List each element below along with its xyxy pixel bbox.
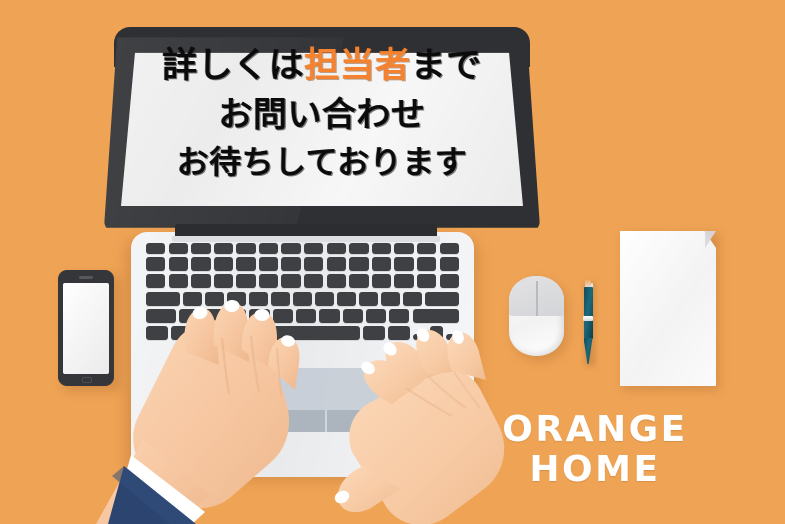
keyboard-key[interactable] — [372, 257, 391, 271]
keyboard-key-alt[interactable] — [196, 326, 218, 340]
keyboard-key[interactable] — [304, 274, 323, 288]
keyboard-key[interactable] — [417, 274, 436, 288]
keyboard-key[interactable] — [227, 292, 246, 306]
keyboard-key[interactable] — [327, 257, 346, 271]
right-hand-nail — [333, 488, 352, 506]
keyboard-key[interactable] — [343, 309, 363, 323]
keyboard-key[interactable] — [203, 309, 223, 323]
keyboard-key[interactable] — [440, 243, 459, 254]
keyboard-key[interactable] — [372, 243, 391, 254]
keyboard-key[interactable] — [146, 274, 165, 288]
keyboard-key[interactable] — [259, 243, 278, 254]
keyboard-row[interactable] — [146, 292, 459, 306]
smartphone-speaker-icon — [79, 276, 93, 279]
keyboard-key[interactable] — [440, 257, 459, 271]
keyboard-key[interactable] — [281, 274, 300, 288]
keyboard-key-ctrl[interactable] — [146, 326, 168, 340]
keyboard-key[interactable] — [214, 243, 233, 254]
keyboard-key[interactable] — [304, 243, 323, 254]
keyboard-key-fn[interactable] — [171, 326, 193, 340]
brand-wordmark: ORANGE HOME — [470, 410, 720, 491]
laptop-keyboard[interactable] — [146, 243, 459, 355]
keyboard-key[interactable] — [349, 257, 368, 271]
laptop-lid: 詳しくは担当者まで お問い合わせ お待ちしております — [104, 27, 540, 234]
keyboard-key[interactable] — [281, 243, 300, 254]
keyboard-row[interactable] — [146, 257, 459, 271]
keyboard-key[interactable] — [366, 309, 386, 323]
keyboard-key[interactable] — [191, 274, 210, 288]
keyboard-key[interactable] — [319, 309, 339, 323]
keyboard-key[interactable] — [394, 257, 413, 271]
keyboard-key[interactable] — [146, 257, 165, 271]
keyboard-key[interactable] — [349, 274, 368, 288]
keyboard-key-space[interactable] — [246, 326, 360, 340]
keyboard-key[interactable] — [281, 257, 300, 271]
pen-band — [583, 316, 593, 321]
pen-tip — [584, 338, 593, 364]
keyboard-key[interactable] — [273, 309, 293, 323]
keyboard-key[interactable] — [236, 257, 255, 271]
laptop-hinge-lip — [172, 236, 440, 242]
keyboard-key-cmd-right[interactable] — [363, 326, 385, 340]
keyboard-key-shift-left[interactable] — [146, 309, 176, 323]
screen-text-segment: まで — [411, 46, 482, 86]
keyboard-key[interactable] — [394, 243, 413, 254]
keyboard-key[interactable] — [381, 292, 400, 306]
keyboard-key[interactable] — [169, 257, 188, 271]
screen-message-line-2: お問い合わせ — [219, 98, 426, 132]
keyboard-key[interactable] — [169, 274, 188, 288]
paper-sheet[interactable] — [620, 231, 716, 386]
keyboard-key[interactable] — [183, 292, 202, 306]
keyboard-key[interactable] — [389, 309, 409, 323]
keyboard-key[interactable] — [372, 274, 391, 288]
keyboard-key[interactable] — [249, 292, 268, 306]
screen-text-segment: 詳しくは — [162, 46, 304, 86]
keyboard-key-enter[interactable] — [425, 292, 459, 306]
keyboard-row-bottom[interactable] — [146, 326, 459, 340]
keyboard-key[interactable] — [226, 309, 246, 323]
keyboard-key-arrow-right[interactable] — [446, 334, 459, 340]
keyboard-key-tab[interactable] — [146, 292, 180, 306]
keyboard-key[interactable] — [249, 309, 269, 323]
keyboard-key[interactable] — [236, 274, 255, 288]
keyboard-key[interactable] — [394, 274, 413, 288]
keyboard-row[interactable] — [146, 309, 459, 323]
keyboard-key[interactable] — [440, 274, 459, 288]
keyboard-key[interactable] — [327, 274, 346, 288]
smartphone-screen[interactable] — [63, 283, 109, 374]
keyboard-key[interactable] — [146, 243, 165, 254]
brand-line-1: ORANGE — [470, 410, 720, 450]
keyboard-key-alt-right[interactable] — [388, 326, 410, 340]
keyboard-key[interactable] — [359, 292, 378, 306]
pen-barrel — [584, 287, 593, 339]
keyboard-key[interactable] — [315, 292, 334, 306]
keyboard-key[interactable] — [236, 243, 255, 254]
screen-message-line-1: 詳しくは担当者まで — [162, 49, 482, 84]
keyboard-key[interactable] — [327, 243, 346, 254]
smartphone-home-button[interactable] — [82, 377, 92, 383]
screen-message-line-3: お待ちしております — [177, 146, 468, 178]
keyboard-key[interactable] — [417, 257, 436, 271]
keyboard-key[interactable] — [259, 274, 278, 288]
screen-text-highlight: 担当者 — [304, 46, 411, 86]
keyboard-key[interactable] — [304, 257, 323, 271]
keyboard-key[interactable] — [349, 243, 368, 254]
ballpoint-pen[interactable] — [582, 278, 594, 364]
keyboard-key-arrow-left[interactable] — [413, 334, 426, 340]
keyboard-key[interactable] — [214, 274, 233, 288]
keyboard-key[interactable] — [293, 292, 312, 306]
computer-mouse-button-divider — [536, 281, 538, 316]
keyboard-key-arrow-updown[interactable] — [430, 326, 443, 340]
keyboard-key[interactable] — [205, 292, 224, 306]
keyboard-key-shift-right[interactable] — [413, 309, 459, 323]
keyboard-key[interactable] — [417, 243, 436, 254]
keyboard-key[interactable] — [259, 257, 278, 271]
banner-canvas: 詳しくは担当者まで お問い合わせ お待ちしております — [0, 0, 785, 524]
keyboard-key[interactable] — [214, 257, 233, 271]
keyboard-row[interactable] — [146, 243, 459, 254]
keyboard-row[interactable] — [146, 274, 459, 288]
keyboard-key[interactable] — [169, 243, 188, 254]
keyboard-key[interactable] — [271, 292, 290, 306]
screen-message: 詳しくは担当者まで お問い合わせ お待ちしております — [104, 27, 540, 234]
keyboard-key[interactable] — [296, 309, 316, 323]
keyboard-key-cmd[interactable] — [221, 326, 243, 340]
keyboard-key[interactable] — [179, 309, 199, 323]
trackpad-button-divider — [325, 410, 327, 432]
keyboard-key[interactable] — [191, 243, 210, 254]
brand-line-2: HOME — [470, 450, 720, 490]
keyboard-key[interactable] — [191, 257, 210, 271]
keyboard-key[interactable] — [403, 292, 422, 306]
keyboard-key[interactable] — [337, 292, 356, 306]
